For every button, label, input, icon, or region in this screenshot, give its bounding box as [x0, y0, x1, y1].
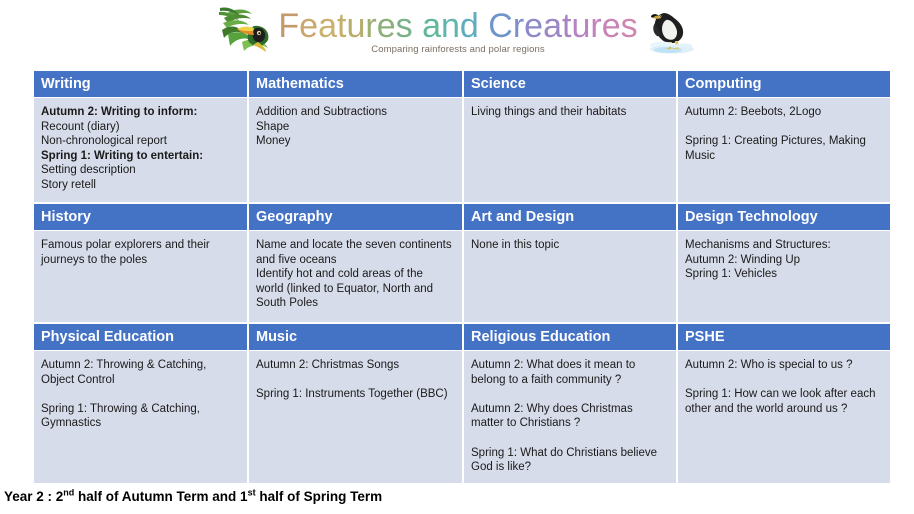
subject-line: Spring 1: Creating Pictures, Making Musi… — [685, 134, 881, 163]
spacer-line — [471, 387, 667, 402]
grid-row: Physical EducationAutumn 2: Throwing & C… — [33, 322, 892, 483]
subject-header[interactable]: Music — [249, 324, 462, 351]
caption-post: half of Spring Term — [256, 489, 383, 504]
subject-cell: ComputingAutumn 2: Beebots, 2Logo Spring… — [678, 71, 891, 202]
subject-cell: GeographyName and locate the seven conti… — [249, 204, 464, 322]
subject-header[interactable]: Art and Design — [464, 204, 676, 231]
subject-line: Shape — [256, 120, 453, 135]
subject-line: Spring 1: What do Christians believe God… — [471, 446, 667, 475]
subject-line: Autumn 2: Who is special to us ? — [685, 358, 881, 373]
subject-body: Name and locate the seven continents and… — [249, 231, 462, 322]
title-letter-4: u — [346, 7, 365, 45]
title-letter-5: r — [365, 7, 376, 45]
subject-body: Addition and SubtractionsShapeMoney — [249, 98, 462, 202]
subject-body: Autumn 2: Christmas Songs Spring 1: Inst… — [249, 351, 462, 483]
toucan-rainforest-icon — [218, 4, 274, 56]
subject-cell: PSHEAutumn 2: Who is special to us ? Spr… — [678, 324, 891, 483]
caption-sup-st: st — [248, 488, 256, 498]
subject-line: Living things and their habitats — [471, 105, 667, 120]
title-letter-16: a — [543, 7, 562, 45]
year-term-caption: Year 2 : 2nd half of Autumn Term and 1st… — [4, 489, 382, 504]
subject-line: Story retell — [41, 178, 238, 193]
subject-body: Autumn 2: Writing to inform:Recount (dia… — [34, 98, 247, 202]
subject-line: Spring 1: Vehicles — [685, 267, 881, 282]
subject-line: Autumn 2: Winding Up — [685, 253, 881, 268]
subject-cell: MusicAutumn 2: Christmas Songs Spring 1:… — [249, 324, 464, 483]
title-letter-1: e — [299, 7, 318, 45]
subject-line: Spring 1: Writing to entertain: — [41, 149, 238, 164]
title-letter-12 — [479, 7, 488, 45]
title-letter-10: n — [441, 7, 460, 45]
spacer-line — [685, 120, 881, 135]
subject-header[interactable]: Mathematics — [249, 71, 462, 98]
subject-header[interactable]: Design Technology — [678, 204, 890, 231]
subject-body: Mechanisms and Structures:Autumn 2: Wind… — [678, 231, 890, 322]
subject-cell: ScienceLiving things and their habitats — [464, 71, 678, 202]
caption-sup-nd: nd — [63, 488, 74, 498]
subject-cell: Design TechnologyMechanisms and Structur… — [678, 204, 891, 322]
page-root: Features and Creatures Comparing rainfor… — [0, 0, 914, 514]
subject-line: Autumn 2: Writing to inform: — [41, 105, 238, 120]
subject-body: Autumn 2: Beebots, 2Logo Spring 1: Creat… — [678, 98, 890, 202]
subject-body: Autumn 2: Throwing & Catching, Object Co… — [34, 351, 247, 483]
banner: Features and Creatures Comparing rainfor… — [0, 0, 914, 66]
subject-cell: HistoryFamous polar explorers and their … — [34, 204, 249, 322]
title-letter-2: a — [318, 7, 337, 45]
subject-line: Famous polar explorers and their journey… — [41, 238, 238, 267]
spacer-line — [41, 387, 238, 402]
subject-line: Autumn 2: Throwing & Catching, Object Co… — [41, 358, 238, 387]
subject-header[interactable]: Religious Education — [464, 324, 676, 351]
subject-body: Living things and their habitats — [464, 98, 676, 202]
caption-mid: half of Autumn Term and 1 — [74, 489, 247, 504]
subject-header[interactable]: Computing — [678, 71, 890, 98]
title-letter-11: d — [460, 7, 479, 45]
subject-header[interactable]: PSHE — [678, 324, 890, 351]
subject-line: Mechanisms and Structures: — [685, 238, 881, 253]
penguin-polar-icon — [642, 4, 696, 56]
subject-line: Autumn 2: Beebots, 2Logo — [685, 105, 881, 120]
title-letter-0: F — [278, 7, 299, 45]
subject-line: Addition and Subtractions — [256, 105, 453, 120]
title-letter-9: a — [422, 7, 441, 45]
subject-body: Famous polar explorers and their journey… — [34, 231, 247, 322]
page-subtitle: Comparing rainforests and polar regions — [371, 44, 544, 55]
subject-body: Autumn 2: Who is special to us ? Spring … — [678, 351, 890, 483]
subject-header[interactable]: Writing — [34, 71, 247, 98]
subject-body: None in this topic — [464, 231, 676, 322]
subject-line: Name and locate the seven continents and… — [256, 238, 453, 267]
subject-header[interactable]: Physical Education — [34, 324, 247, 351]
subject-header[interactable]: History — [34, 204, 247, 231]
subject-line: Non-chronological report — [41, 134, 238, 149]
subject-line: Recount (diary) — [41, 120, 238, 135]
spacer-line — [256, 373, 453, 388]
title-letter-18: u — [571, 7, 590, 45]
grid-row: WritingAutumn 2: Writing to inform:Recou… — [33, 71, 892, 202]
spacer-line — [685, 373, 881, 388]
subject-cell: Art and DesignNone in this topic — [464, 204, 678, 322]
title-letter-7: s — [396, 7, 413, 45]
page-title: Features and Creatures — [278, 6, 637, 46]
subject-body: Autumn 2: What does it mean to belong to… — [464, 351, 676, 483]
title-letter-6: e — [377, 7, 396, 45]
subject-line: Identify hot and cold areas of the world… — [256, 267, 453, 311]
subject-line: Autumn 2: Why does Christmas matter to C… — [471, 402, 667, 431]
subject-header[interactable]: Science — [464, 71, 676, 98]
grid-row: HistoryFamous polar explorers and their … — [33, 202, 892, 322]
title-block: Features and Creatures Comparing rainfor… — [278, 4, 637, 55]
subject-line: Autumn 2: What does it mean to belong to… — [471, 358, 667, 387]
curriculum-grid: WritingAutumn 2: Writing to inform:Recou… — [33, 71, 892, 485]
subject-cell: MathematicsAddition and SubtractionsShap… — [249, 71, 464, 202]
title-letter-20: e — [602, 7, 621, 45]
subject-cell: Physical EducationAutumn 2: Throwing & C… — [34, 324, 249, 483]
subject-header[interactable]: Geography — [249, 204, 462, 231]
banner-inner: Features and Creatures Comparing rainfor… — [218, 4, 695, 56]
subject-line: None in this topic — [471, 238, 667, 253]
subject-cell: Religious EducationAutumn 2: What does i… — [464, 324, 678, 483]
subject-line: Autumn 2: Christmas Songs — [256, 358, 453, 373]
spacer-line — [471, 431, 667, 446]
subject-line: Spring 1: Instruments Together (BBC) — [256, 387, 453, 402]
caption-pre: Year 2 : 2 — [4, 489, 63, 504]
title-letter-15: e — [524, 7, 543, 45]
subject-cell: WritingAutumn 2: Writing to inform:Recou… — [34, 71, 249, 202]
subject-line: Setting description — [41, 163, 238, 178]
subject-line: Spring 1: How can we look after each oth… — [685, 387, 881, 416]
title-letter-21: s — [621, 7, 638, 45]
subject-line: Spring 1: Throwing & Catching, Gymnastic… — [41, 402, 238, 431]
title-letter-14: r — [513, 7, 524, 45]
title-letter-19: r — [590, 7, 601, 45]
title-letter-8 — [413, 7, 422, 45]
subject-line: Money — [256, 134, 453, 149]
title-letter-13: C — [488, 7, 513, 45]
